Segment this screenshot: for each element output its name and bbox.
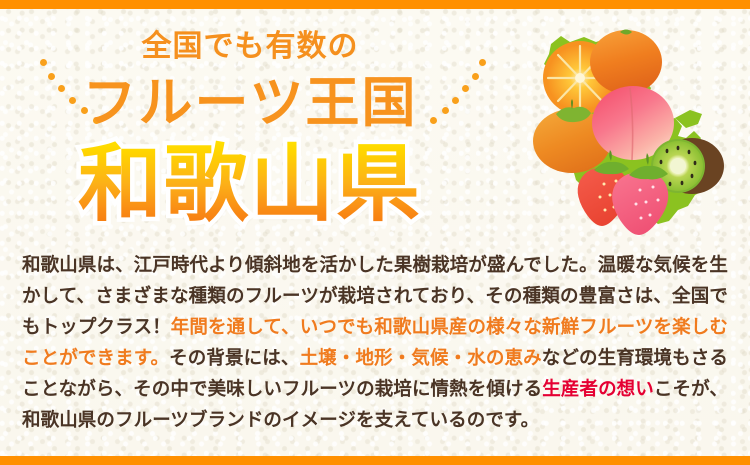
map-svg [510,18,746,240]
title-main: フルーツ王国 [0,74,500,132]
body-copy: 和歌山県は、江戸時代より傾斜地を活かした果樹栽培が盛んでした。温暖な気候を生かし… [0,250,750,436]
title-prefecture-wrap: 和歌山県 和歌山県 [0,136,500,236]
title-prefecture-fill: 和歌山県 [78,135,422,233]
top-accent-bar [0,0,750,9]
bottom-accent-bar [0,456,750,465]
title-prefecture: 和歌山県 和歌山県 [78,136,422,232]
mandarin-orange-icon [590,30,662,95]
body-segment-normal: その背景には、 [169,348,299,369]
title-kicker: 全国でも有数の [0,30,500,64]
body-segment-orange: 土壌・地形・気候・水の恵み [300,348,542,369]
page-root: 全国でも有数の フルーツ王国 和歌山県 和歌山県 [0,0,750,465]
wakayama-map-illustration [510,18,746,240]
body-paragraph: 和歌山県は、江戸時代より傾斜地を活かした果樹栽培が盛んでした。温暖な気候を生かし… [22,250,728,436]
body-segment-red: 生産者の想い [542,379,654,400]
heading-block: 全国でも有数の フルーツ王国 和歌山県 和歌山県 [0,14,500,234]
